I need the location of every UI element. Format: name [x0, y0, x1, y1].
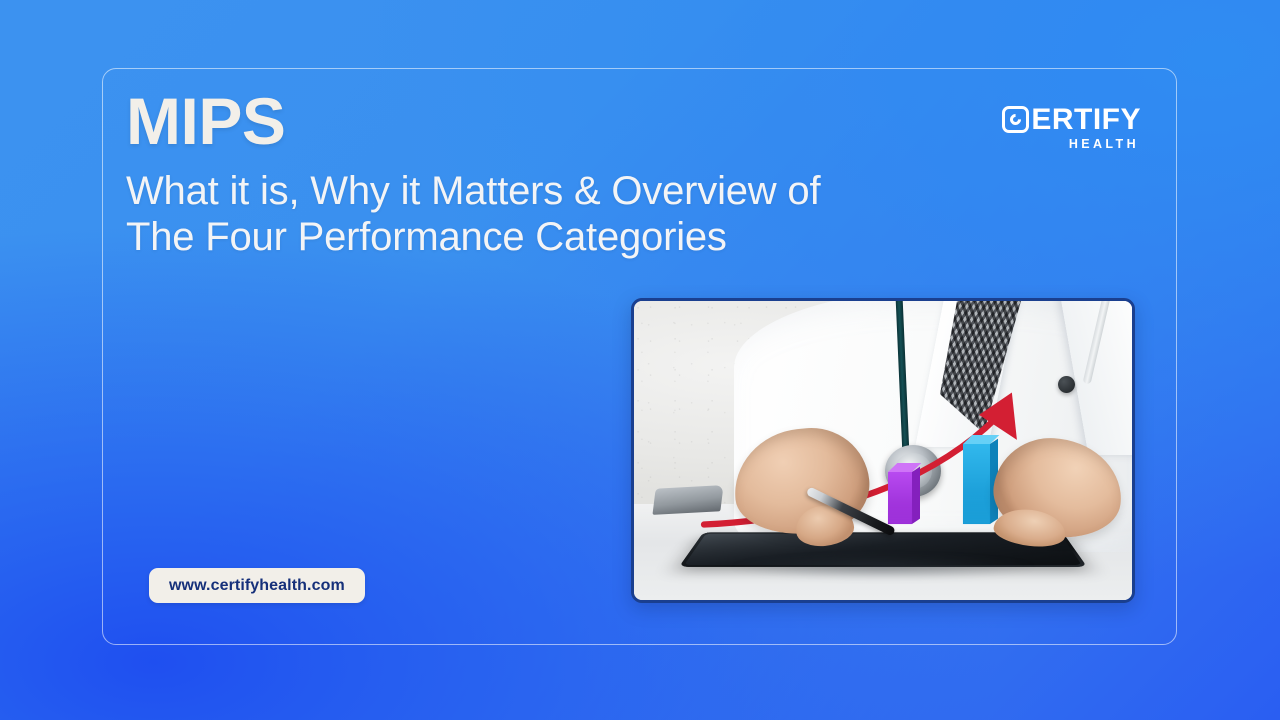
hero-photo-frame — [631, 298, 1135, 603]
certify-c-mark-icon — [1002, 106, 1029, 133]
page-subtitle: What it is, Why it Matters & Overview of… — [126, 168, 856, 260]
bar-reflection — [888, 502, 912, 524]
logo-sub-wordmark-text: HEALTH — [1002, 138, 1141, 151]
tablet-reflection — [669, 552, 1097, 582]
page-title: MIPS — [126, 88, 906, 154]
bar-reflection — [963, 490, 990, 524]
banner-canvas: MIPS What it is, Why it Matters & Overvi… — [0, 0, 1280, 720]
brand-logo[interactable]: ERTIFY HEALTH — [1002, 106, 1141, 151]
chart-bar-purple — [888, 472, 912, 524]
laptop-edge — [652, 485, 723, 515]
logo-wordmark-text: ERTIFY — [1031, 106, 1141, 133]
website-url-text: www.certifyhealth.com — [169, 577, 345, 595]
bar-side — [912, 466, 920, 523]
chart-bar-cyan — [963, 444, 990, 524]
website-url-badge[interactable]: www.certifyhealth.com — [149, 568, 365, 603]
headline-block: MIPS What it is, Why it Matters & Overvi… — [126, 88, 906, 260]
hero-photo — [634, 301, 1132, 600]
logo-wordmark: ERTIFY — [1002, 106, 1141, 133]
